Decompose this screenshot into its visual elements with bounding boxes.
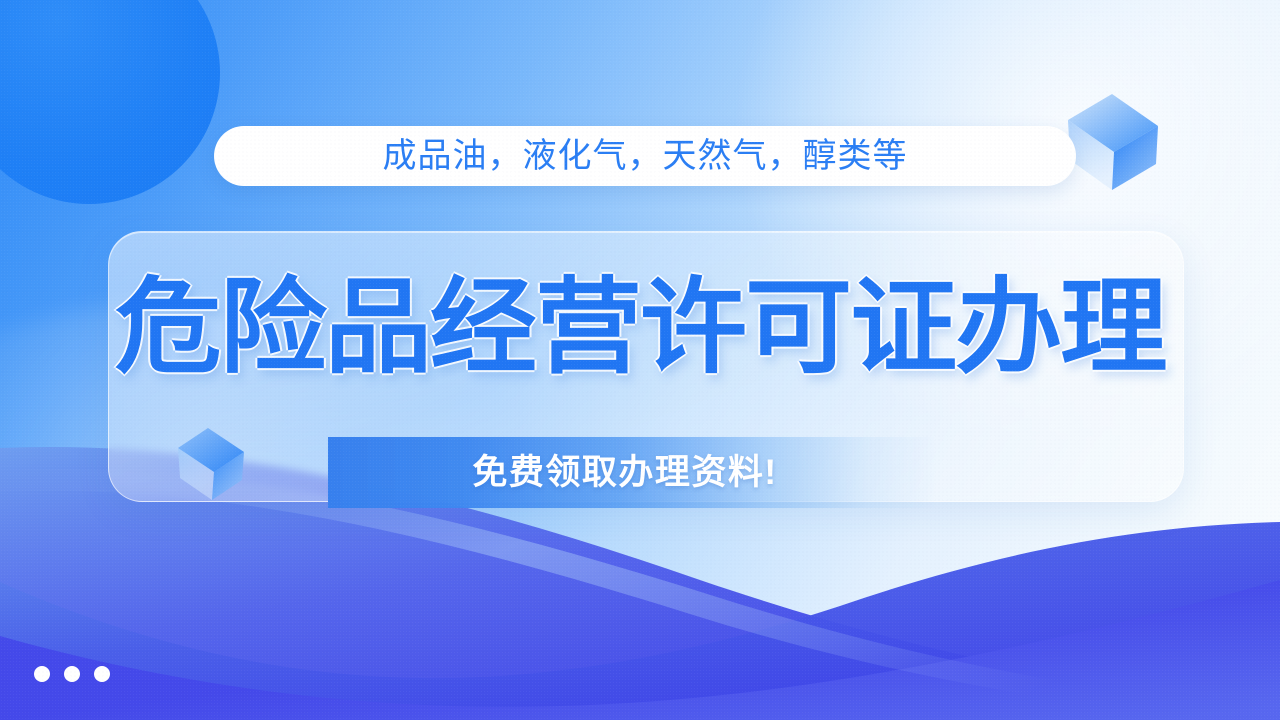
cube-3d-icon bbox=[1060, 86, 1164, 194]
cube-3d-icon bbox=[174, 424, 248, 502]
cta-label: 免费领取办理资料! bbox=[472, 455, 777, 490]
page-title: 危险品经营许可证办理 bbox=[0, 272, 1280, 382]
corner-circle-decoration bbox=[0, 0, 220, 204]
cta-bar[interactable]: 免费领取办理资料! bbox=[328, 437, 934, 508]
dot-indicator-2[interactable] bbox=[64, 666, 80, 682]
tagline-text: 成品油，液化气，天然气，醇类等 bbox=[383, 139, 908, 173]
tagline-pill: 成品油，液化气，天然气，醇类等 bbox=[214, 126, 1076, 186]
dot-indicator-1[interactable] bbox=[34, 666, 50, 682]
dot-indicator-3[interactable] bbox=[94, 666, 110, 682]
dot-indicators[interactable] bbox=[34, 666, 110, 682]
promo-banner: 成品油，液化气，天然气，醇类等 危险品经营许可证办理 免费领取办理资料! bbox=[0, 0, 1280, 720]
headline-text: 危险品经营许可证办理 bbox=[115, 272, 1166, 382]
